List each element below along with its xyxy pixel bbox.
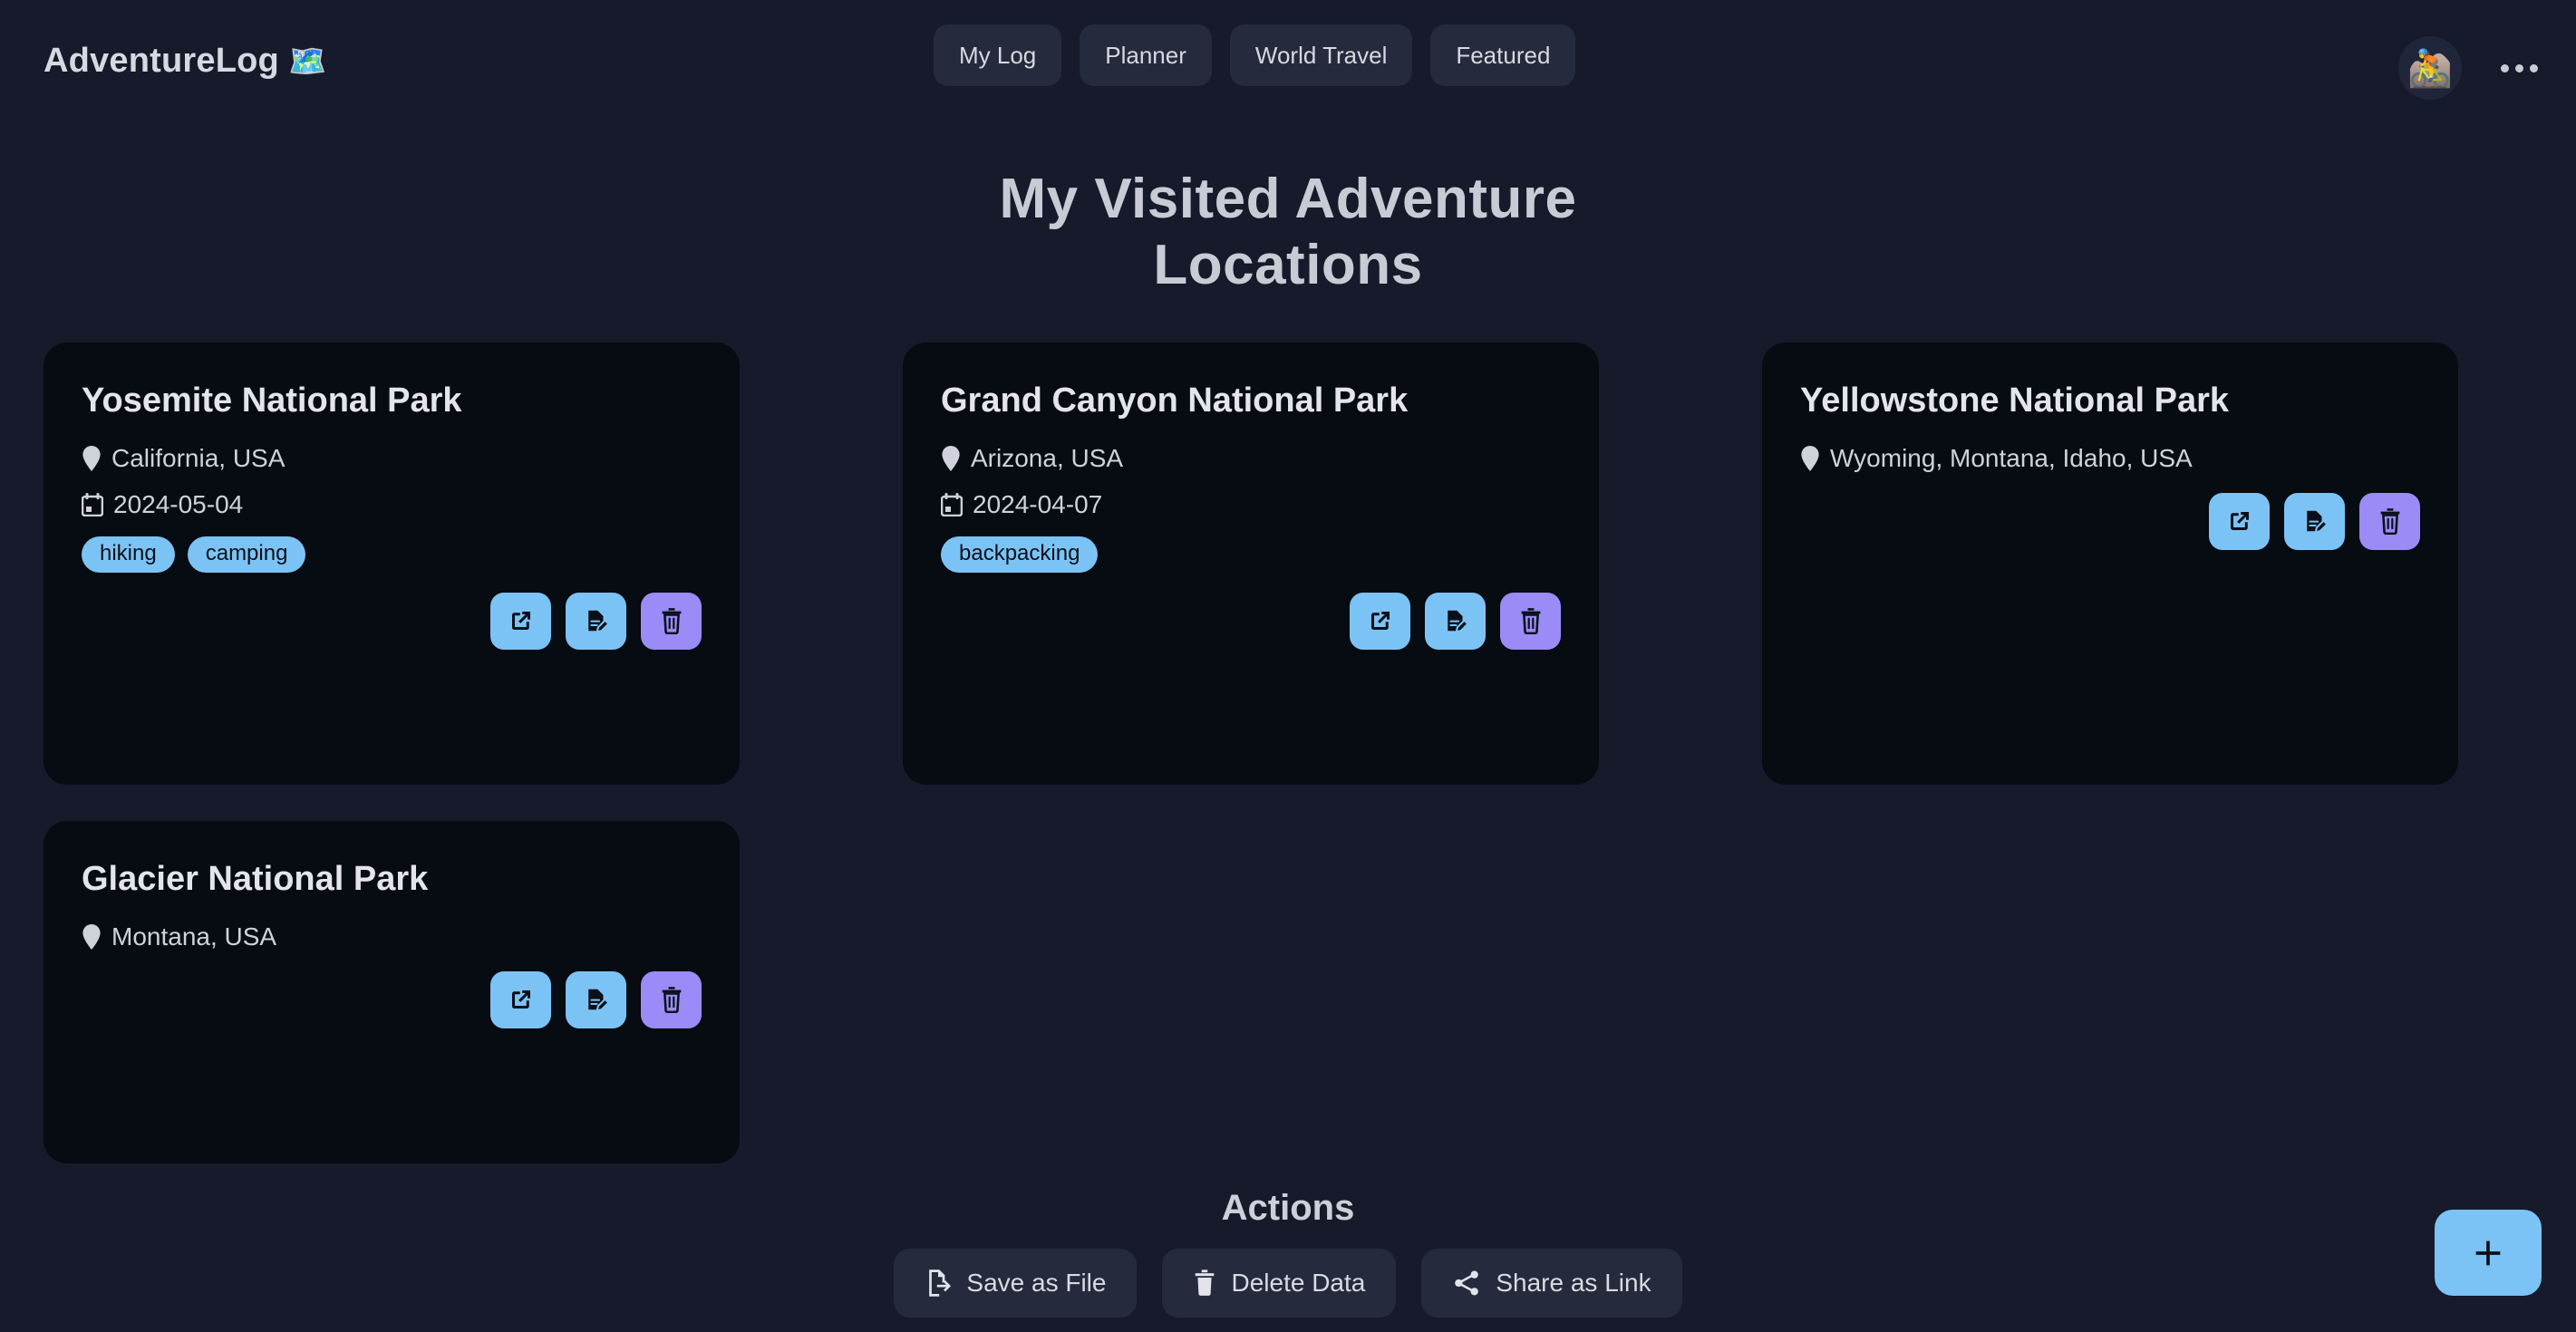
trash-icon (1193, 1269, 1216, 1298)
card-tags: hiking camping (82, 536, 702, 573)
adventure-card-grid: Yosemite National Park California, USA 2… (44, 343, 2532, 1163)
card-action-buttons (941, 593, 1561, 650)
card-location: California, USA (82, 444, 702, 473)
tab-planner[interactable]: Planner (1080, 24, 1212, 86)
ellipsis-icon-dot (2501, 64, 2509, 72)
card-location-label: California, USA (111, 444, 285, 473)
save-as-file-label: Save as File (966, 1269, 1106, 1298)
card-location: Arizona, USA (941, 444, 1561, 473)
ellipsis-icon-dot (2530, 64, 2538, 72)
open-external-button[interactable] (1350, 593, 1410, 650)
adventure-card[interactable]: Yellowstone National Park Wyoming, Monta… (1762, 343, 2458, 785)
adventure-card[interactable]: Yosemite National Park California, USA 2… (44, 343, 740, 785)
external-link-icon (1367, 607, 1394, 634)
document-edit-icon (583, 607, 610, 634)
add-adventure-fab[interactable] (2435, 1210, 2542, 1296)
actions-heading: Actions (0, 1188, 2576, 1229)
plus-icon (2470, 1235, 2506, 1271)
actions-section: Actions Save as File Delete Data (0, 1188, 2576, 1332)
card-location-label: Montana, USA (111, 922, 276, 951)
location-pin-icon (82, 924, 102, 950)
tag-chip[interactable]: camping (188, 536, 306, 573)
delete-data-label: Delete Data (1231, 1269, 1365, 1298)
card-title: Glacier National Park (82, 861, 702, 899)
external-link-icon (2226, 507, 2253, 535)
tag-chip[interactable]: hiking (82, 536, 175, 573)
edit-document-button[interactable] (2284, 493, 2345, 550)
document-edit-icon (583, 986, 610, 1013)
edit-document-button[interactable] (566, 971, 626, 1028)
actions-button-row: Save as File Delete Data Share as Link (0, 1249, 2576, 1318)
card-location: Wyoming, Montana, Idaho, USA (1800, 444, 2420, 473)
external-link-icon (508, 986, 535, 1013)
share-as-link-button[interactable]: Share as Link (1421, 1249, 1681, 1318)
avatar[interactable]: 🚵 (2398, 36, 2462, 100)
card-location-label: Arizona, USA (971, 444, 1123, 473)
location-pin-icon (941, 446, 961, 471)
external-link-icon (508, 607, 535, 634)
card-location-label: Wyoming, Montana, Idaho, USA (1830, 444, 2193, 473)
overflow-menu-button[interactable] (2485, 36, 2552, 100)
ellipsis-icon-dot (2515, 64, 2523, 72)
edit-document-button[interactable] (1425, 593, 1486, 650)
delete-button[interactable] (641, 971, 702, 1028)
top-bar: AdventureLog🗺️ My Log Planner World Trav… (0, 0, 2576, 136)
calendar-icon (941, 493, 963, 516)
location-pin-icon (1800, 446, 1820, 471)
main-navigation: My Log Planner World Travel Featured (934, 24, 1575, 86)
card-action-buttons (1800, 493, 2420, 550)
mountain-biker-icon: 🚵 (2407, 47, 2453, 90)
delete-button[interactable] (2359, 493, 2420, 550)
tag-chip[interactable]: backpacking (941, 536, 1098, 573)
delete-button[interactable] (1500, 593, 1561, 650)
open-external-button[interactable] (490, 593, 551, 650)
share-icon (1452, 1269, 1481, 1298)
file-export-icon (925, 1269, 952, 1298)
tab-world-travel[interactable]: World Travel (1230, 24, 1412, 86)
document-edit-icon (2301, 507, 2329, 535)
page-title: My Visited Adventure Locations (880, 166, 1696, 298)
trash-icon (2377, 507, 2403, 535)
card-title: Grand Canyon National Park (941, 382, 1561, 420)
card-date: 2024-04-07 (941, 490, 1561, 519)
card-action-buttons (82, 593, 702, 650)
open-external-button[interactable] (2209, 493, 2270, 550)
calendar-icon (82, 493, 103, 516)
card-action-buttons (82, 971, 702, 1028)
trash-icon (659, 607, 684, 634)
card-date-label: 2024-04-07 (973, 490, 1102, 519)
adventure-card[interactable]: Grand Canyon National Park Arizona, USA … (903, 343, 1599, 785)
share-as-link-label: Share as Link (1496, 1269, 1651, 1298)
card-location: Montana, USA (82, 922, 702, 951)
location-pin-icon (82, 446, 102, 471)
card-title: Yosemite National Park (82, 382, 702, 420)
open-external-button[interactable] (490, 971, 551, 1028)
edit-document-button[interactable] (566, 593, 626, 650)
trash-icon (659, 986, 684, 1013)
adventure-card[interactable]: Glacier National Park Montana, USA (44, 821, 740, 1163)
card-date-label: 2024-05-04 (113, 490, 243, 519)
brand-label: AdventureLog (44, 42, 279, 80)
card-tags: backpacking (941, 536, 1561, 573)
app-brand[interactable]: AdventureLog🗺️ (44, 42, 327, 81)
delete-data-button[interactable]: Delete Data (1162, 1249, 1396, 1318)
tab-my-log[interactable]: My Log (934, 24, 1061, 86)
save-as-file-button[interactable]: Save as File (894, 1249, 1137, 1318)
card-date: 2024-05-04 (82, 490, 702, 519)
document-edit-icon (1442, 607, 1469, 634)
tab-featured[interactable]: Featured (1430, 24, 1575, 86)
card-title: Yellowstone National Park (1800, 382, 2420, 420)
delete-button[interactable] (641, 593, 702, 650)
world-map-icon: 🗺️ (288, 44, 327, 79)
trash-icon (1518, 607, 1544, 634)
